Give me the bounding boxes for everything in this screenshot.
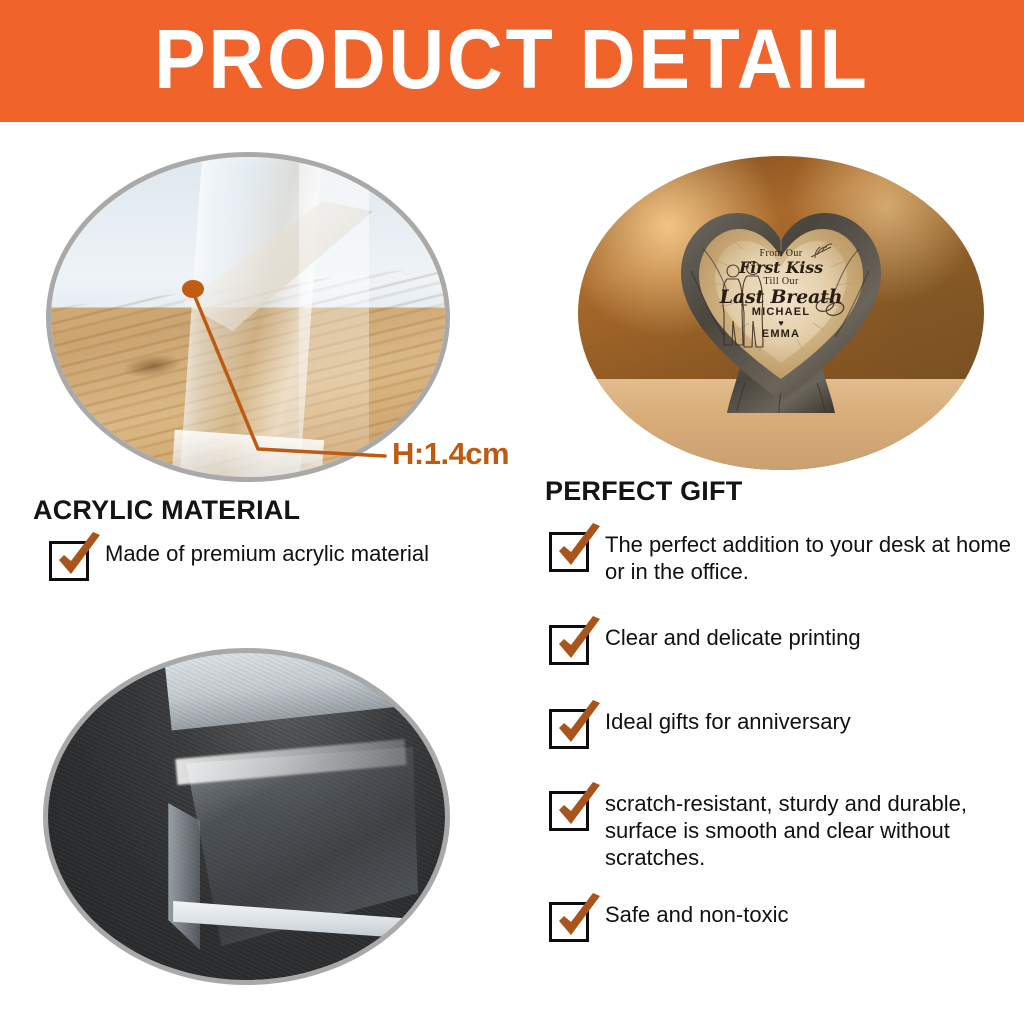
checkmark-icon <box>550 698 606 754</box>
list-item: Safe and non-toxic <box>549 902 788 942</box>
photo-heart-plaque: From Our First Kiss Till Our Last Breath… <box>578 156 984 470</box>
checkmark-icon <box>550 614 606 670</box>
acrylic-slab-right-face <box>299 163 369 470</box>
checkbox-checked-icon <box>549 709 589 749</box>
heading-perfect-gift: PERFECT GIFT <box>545 476 742 507</box>
list-item: Clear and delicate printing <box>549 625 861 665</box>
heart-plaque-svg <box>669 187 893 427</box>
callout-dot <box>182 280 204 298</box>
couple-illustration <box>716 259 770 357</box>
checkbox-checked-icon <box>549 791 589 831</box>
list-item-text: The perfect addition to your desk at hom… <box>605 532 1024 586</box>
photo-acrylic-edge <box>46 152 450 482</box>
heading-acrylic-material: ACRYLIC MATERIAL <box>33 495 300 526</box>
photo-acrylic-block <box>43 648 450 985</box>
list-item-text: Safe and non-toxic <box>605 902 788 929</box>
list-item: scratch-resistant, sturdy and durable, s… <box>549 791 1024 871</box>
product-detail-infographic: PRODUCT DETAIL H:1.4cm <box>0 0 1024 1024</box>
list-item-text: Ideal gifts for anniversary <box>605 709 851 736</box>
list-item-text: scratch-resistant, sturdy and durable, s… <box>605 791 1024 871</box>
checkmark-icon <box>550 521 606 577</box>
height-callout-label: H:1.4cm <box>392 436 509 472</box>
checkmark-icon <box>50 530 106 586</box>
header-banner: PRODUCT DETAIL <box>0 0 1024 122</box>
list-item-text: Made of premium acrylic material <box>105 541 429 568</box>
checkmark-icon <box>550 891 606 947</box>
list-item: The perfect addition to your desk at hom… <box>549 532 1024 586</box>
checkbox-checked-icon <box>49 541 89 581</box>
list-item-text: Clear and delicate printing <box>605 625 861 652</box>
page-title: PRODUCT DETAIL <box>154 17 870 101</box>
checkbox-checked-icon <box>549 902 589 942</box>
list-item: Ideal gifts for anniversary <box>549 709 851 749</box>
checkmark-icon <box>550 780 606 836</box>
list-item: Made of premium acrylic material <box>49 541 429 581</box>
heart-plaque-object: From Our First Kiss Till Our Last Breath… <box>669 187 893 427</box>
checkbox-checked-icon <box>549 532 589 572</box>
checkbox-checked-icon <box>549 625 589 665</box>
